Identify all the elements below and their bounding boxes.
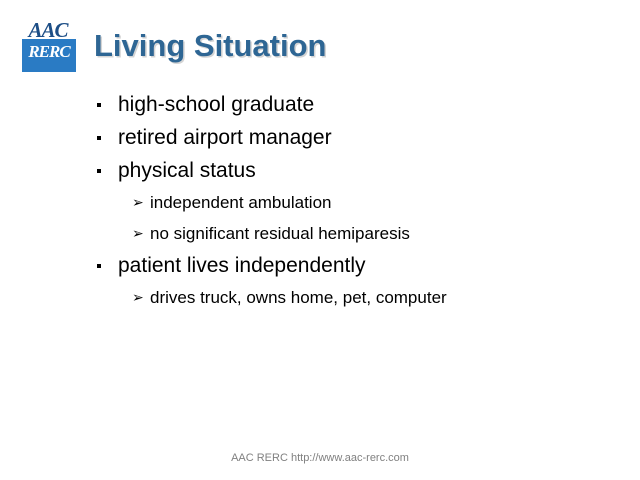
sub-list-item-label: independent ambulation [150, 193, 331, 212]
logo-aac-text: AAC [20, 20, 76, 41]
square-bullet-icon [97, 169, 101, 173]
list-item-label: high-school graduate [118, 93, 314, 116]
arrowhead-bullet-icon: ➢ [132, 187, 144, 218]
sub-list-item: ➢ independent ambulation [0, 187, 640, 218]
square-bullet-icon [97, 264, 101, 268]
page-title: Living Situation [94, 28, 327, 64]
bullet-list: high-school graduate retired airport man… [0, 88, 640, 313]
list-item-label: retired airport manager [118, 126, 332, 149]
sub-list-item: ➢ no significant residual hemiparesis [0, 218, 640, 249]
list-item: patient lives independently [0, 249, 640, 282]
list-item: retired airport manager [0, 121, 640, 154]
list-item-label: patient lives independently [118, 254, 366, 277]
sub-list-item-label: no significant residual hemiparesis [150, 224, 410, 243]
arrowhead-bullet-icon: ➢ [132, 218, 144, 249]
slide-footer: AAC RERC http://www.aac-rerc.com [0, 452, 640, 464]
logo-rerc-text: RERC [22, 39, 76, 72]
list-item-label: physical status [118, 159, 256, 182]
square-bullet-icon [97, 136, 101, 140]
arrowhead-bullet-icon: ➢ [132, 282, 144, 313]
square-bullet-icon [97, 103, 101, 107]
logo-blue-block: RERC [22, 39, 76, 72]
list-item: high-school graduate [0, 88, 640, 121]
list-item: physical status [0, 154, 640, 187]
sub-list-item: ➢ drives truck, owns home, pet, computer [0, 282, 640, 313]
sub-list-item-label: drives truck, owns home, pet, computer [150, 288, 447, 307]
aac-rerc-logo: AAC RERC [20, 20, 76, 72]
